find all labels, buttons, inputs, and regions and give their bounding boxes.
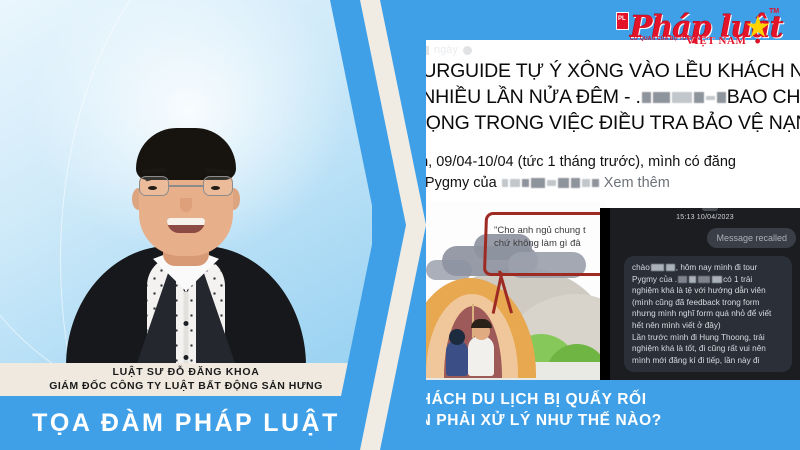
star-icon: ★: [744, 14, 772, 42]
social-post-screenshot: ngày TOURGUIDE TỰ Ý XÔNG VÀO LỀU KHÁCH N…: [396, 40, 800, 380]
redaction-block: [558, 178, 569, 188]
chat-line-2b: có 1 trải: [723, 275, 752, 284]
post-body-line-1: mn, 09/04-10/04 (tức 1 tháng trước), mìn…: [408, 152, 800, 173]
chat-line-3: nghiệm khá là tệ với hướng dẫn viên: [632, 286, 766, 295]
redaction-block: [463, 46, 472, 55]
redaction-block: [571, 178, 580, 188]
logo-country: VIỆT NAM: [686, 35, 747, 47]
channel-logo: Pháp luật ★ TM CƠ QUAN CỦA BỘ TƯ PHÁP VI…: [616, 2, 794, 50]
speaker-eye-left: [148, 186, 157, 190]
redaction-block: [689, 276, 696, 283]
speaker-panel: LUẬT SƯ ĐỖ ĐĂNG KHOA GIÁM ĐỐC CÔNG TY LU…: [0, 0, 372, 450]
figure-man: [468, 336, 494, 376]
redaction-block: [678, 276, 687, 283]
speech-bubble-text: "Cho anh ngủ chung t chứ không làm gì đâ: [494, 224, 606, 250]
show-title: TỌA ĐÀM PHÁP LUẬT: [32, 409, 340, 438]
redaction-block: [651, 264, 664, 271]
video-thumbnail: LUẬT SƯ ĐỖ ĐĂNG KHOA GIÁM ĐỐC CÔNG TY LU…: [0, 0, 800, 450]
chat-screenshot: 15:13 10/04/2023 Message recalled chào, …: [600, 208, 800, 380]
speaker-eye-right: [211, 186, 220, 190]
chat-line-6: hết nên mình viết ở đây): [632, 321, 721, 330]
post-headline: TOURGUIDE TỰ Ý XÔNG VÀO LỀU KHÁCH NỮ, QU…: [396, 58, 800, 136]
redaction-block: [547, 180, 556, 186]
chat-timestamp: 15:13 10/04/2023: [610, 214, 800, 221]
redaction-block: [666, 264, 675, 271]
redaction-block: [642, 92, 651, 103]
chat-line-7: Lần trước mình đi Hung Thoong, trải: [632, 333, 765, 342]
chat-bubble-recalled: Message recalled: [707, 228, 796, 248]
see-more-link[interactable]: Xem thêm: [604, 175, 670, 191]
speech-bubble-line-1: "Cho anh ngủ chung t: [494, 224, 606, 237]
chat-thread: 15:13 10/04/2023 Message recalled chào, …: [610, 208, 800, 380]
redaction-block: [653, 92, 670, 103]
redaction-block: [531, 178, 545, 188]
speaker-teeth: [167, 218, 205, 225]
phone-notch: [702, 208, 718, 211]
shirt-button: [184, 355, 189, 360]
chat-line-1a: chào: [632, 263, 650, 272]
redaction-block: [510, 179, 520, 187]
redaction-block: [694, 92, 704, 103]
chat-line-1b: , hôm nay mình đi tour: [676, 263, 757, 272]
chat-bubble-incoming: chào, hôm nay mình đi tour Pygmy của .có…: [624, 256, 792, 372]
tent-illustration: "Cho anh ngủ chung t chứ không làm gì đâ: [400, 202, 606, 380]
chat-line-5: nhưng mình nghĩ form quá nhỏ để viết: [632, 309, 771, 318]
speaker-name-plate: LUẬT SƯ ĐỖ ĐĂNG KHOA GIÁM ĐỐC CÔNG TY LU…: [0, 363, 372, 396]
redaction-block: [582, 179, 590, 187]
redaction-block: [706, 96, 715, 100]
post-body: mn, 09/04-10/04 (tức 1 tháng trước), mìn…: [408, 152, 800, 194]
headline-line-2-text: RỐI NHIỀU LẦN NỬA ĐÊM - .: [396, 86, 641, 108]
post-meta-row: ngày: [402, 42, 632, 58]
speaker-nose: [180, 198, 192, 212]
chat-line-9: mình mới đăng kí đi tiếp, lần này đi: [632, 356, 759, 365]
headline-line-2: RỐI NHIỀU LẦN NỬA ĐÊM - .BAO CHE: [396, 84, 800, 110]
figure-woman: [446, 340, 468, 376]
redaction-block: [717, 92, 726, 103]
caption-bar: KHÁCH DU LỊCH BỊ QUẤY RỐI CẦN PHẢI XỬ LÝ…: [372, 380, 800, 450]
chat-line-2a: Pygmy của .: [632, 275, 677, 284]
chat-line-8: nghiệm khá là tốt, đi cũng rất vui nên: [632, 344, 766, 353]
eyeglasses-bridge: [169, 185, 203, 187]
headline-line-3: TẮT LỌNG TRONG VIỆC ĐIỀU TRA BẢO VỆ NẠN …: [396, 110, 800, 136]
show-title-bar: TỌA ĐÀM PHÁP LUẬT: [0, 396, 372, 450]
chat-line-4: (mình cũng đã feedback trong form: [632, 298, 759, 307]
redaction-block: [502, 179, 508, 187]
trademark-label: TM: [769, 8, 779, 15]
redaction-block: [522, 179, 529, 187]
post-body-line-2: ur Pygmy của Xem thêm: [408, 173, 800, 194]
speaker-mouth: [167, 218, 205, 233]
shirt-button: [184, 321, 189, 326]
caption-line-2: CẦN PHẢI XỬ LÝ NHƯ THẾ NÀO?: [396, 412, 662, 430]
post-meta-text: ngày: [434, 44, 458, 56]
redaction-block: [672, 92, 692, 103]
caption-line-1: KHÁCH DU LỊCH BỊ QUẤY RỐI: [408, 391, 647, 409]
redaction-block: [712, 276, 722, 283]
speaker-role: GIÁM ĐỐC CÔNG TY LUẬT BẤT ĐỘNG SẢN HƯNG: [0, 380, 372, 392]
logo-mark-icon: [616, 12, 629, 30]
redaction-block: [592, 179, 599, 187]
headline-line-2-tail: BAO CHE: [727, 86, 800, 108]
speech-bubble-line-2: chứ không làm gì đâ: [494, 237, 606, 250]
speaker-name: LUẬT SƯ ĐỖ ĐĂNG KHOA: [0, 366, 372, 378]
headline-line-1: TOURGUIDE TỰ Ý XÔNG VÀO LỀU KHÁCH NỮ, QU…: [396, 58, 800, 84]
redaction-block: [698, 276, 710, 283]
